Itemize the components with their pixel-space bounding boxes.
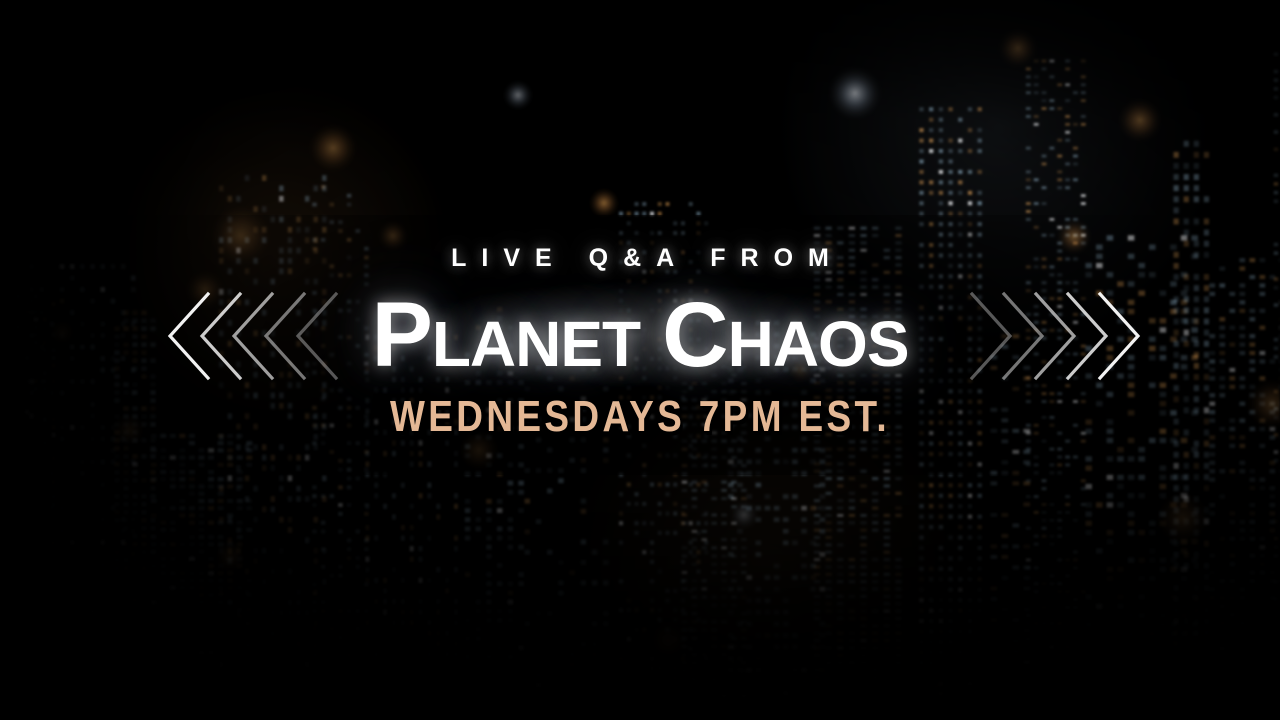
title-lockup: LIVE Q&A FROM PlanetChaos WEDNESDAYS 7PM… bbox=[0, 246, 1280, 439]
vignette-bottom bbox=[0, 420, 1280, 720]
schedule-text: WEDNESDAYS 7PM EST. bbox=[102, 395, 1177, 439]
vignette-top bbox=[0, 0, 1280, 120]
eyebrow-text: LIVE Q&A FROM bbox=[0, 246, 1280, 271]
title-word-1: Planet bbox=[371, 284, 640, 386]
show-title: PlanetChaos bbox=[371, 287, 908, 383]
title-word-2: Chaos bbox=[662, 284, 908, 386]
title-card-stage: LIVE Q&A FROM PlanetChaos WEDNESDAYS 7PM… bbox=[0, 0, 1280, 720]
title-row: PlanetChaos bbox=[0, 287, 1280, 383]
